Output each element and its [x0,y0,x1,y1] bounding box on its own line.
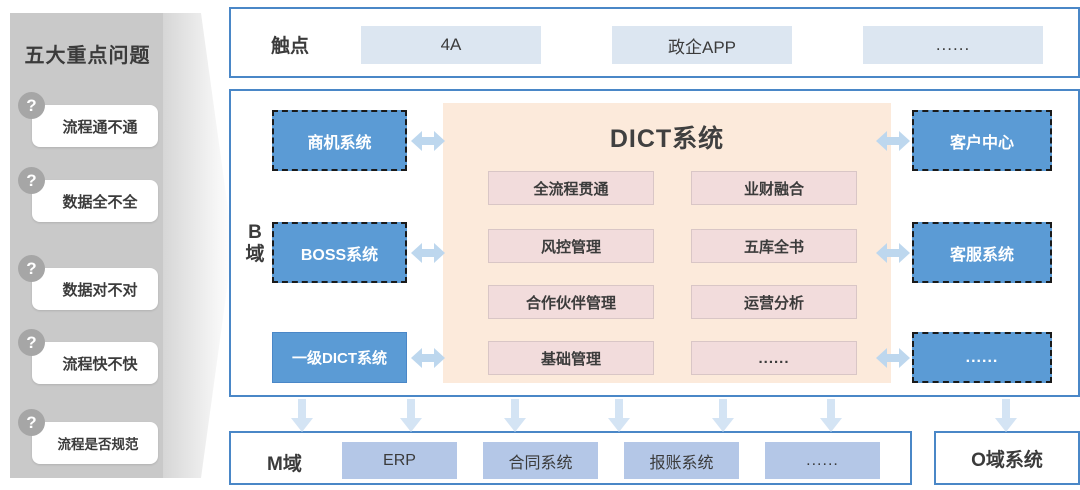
dict-system-area: DICT系统 全流程贯通 风控管理 合作伙伴管理 基础管理 业财融合 五库全书 … [443,103,891,383]
bidirectional-arrow-icon [411,240,445,266]
system-box-more[interactable]: ...... [912,332,1052,383]
m-chip-contract-system[interactable]: 合同系统 [483,442,598,479]
key-issues-sidebar: 五大重点问题 流程通不通 ? 数据全不全 ? 数据对不对 ? 流程快不快 ? [10,13,165,478]
bidirectional-arrow-icon [876,240,910,266]
issue-label: 数据全不全 [52,191,137,212]
down-arrow-icon [291,399,313,432]
touchpoint-title: 触点 [271,31,309,58]
module-label: 合作伙伴管理 [526,292,616,313]
question-mark-icon: ? [18,329,45,356]
question-mark-icon: ? [18,409,45,436]
chip-label: 4A [441,35,462,55]
issue-box: 流程是否规范 [32,422,158,464]
chip-label: ...... [806,452,839,470]
bidirectional-arrow-icon [876,128,910,154]
chip-label: ...... [936,35,970,55]
b-domain-label-line2: 域 [240,244,270,266]
dict-module-partner-mgmt[interactable]: 合作伙伴管理 [488,285,654,319]
diagram-canvas: 五大重点问题 流程通不通 ? 数据全不全 ? 数据对不对 ? 流程快不快 ? [0,0,1080,490]
dict-system-title: DICT系统 [443,119,891,155]
question-mark-icon: ? [18,255,45,282]
module-label: 风控管理 [541,236,601,257]
module-label: 五库全书 [744,236,804,257]
system-label: ...... [966,349,999,367]
m-chip-more[interactable]: ...... [765,442,880,479]
touchpoint-chip-gov-app[interactable]: 政企APP [612,26,792,64]
dict-module-more[interactable]: ...... [691,341,857,375]
m-chip-reimbursement-system[interactable]: 报账系统 [624,442,739,479]
sidebar-title: 五大重点问题 [10,39,165,68]
touchpoint-chip-more[interactable]: ...... [863,26,1043,64]
chip-label: 报账系统 [649,449,713,473]
system-box-customer-service[interactable]: 客服系统 [912,222,1052,283]
module-label: 业财融合 [744,178,804,199]
m-chip-erp[interactable]: ERP [342,442,457,479]
system-label: BOSS系统 [301,241,378,265]
issue-item-4[interactable]: 流程快不快 ? [28,342,158,384]
module-label: 全流程贯通 [533,178,608,199]
b-domain-label: B 域 [240,222,270,266]
o-domain-panel[interactable]: O域系统 [934,431,1080,485]
b-domain-label-line1: B [240,222,270,244]
issue-box: 流程通不通 [32,105,158,147]
issue-box: 数据全不全 [32,180,158,222]
system-label: 商机系统 [307,129,371,153]
chevron-connector-icon [163,13,233,478]
issue-item-5[interactable]: 流程是否规范 ? [28,422,158,464]
dict-module-basic-mgmt[interactable]: 基础管理 [488,341,654,375]
dict-module-operation-analysis[interactable]: 运营分析 [691,285,857,319]
issue-item-2[interactable]: 数据全不全 ? [28,180,158,222]
chip-label: 政企APP [668,33,736,58]
issue-label: 流程是否规范 [52,433,139,453]
m-domain-panel: M域 ERP 合同系统 报账系统 ...... [229,431,912,485]
bidirectional-arrow-icon [411,345,445,371]
question-mark-icon: ? [18,167,45,194]
module-label: 运营分析 [744,292,804,313]
touchpoint-panel: 触点 4A 政企APP ...... [229,7,1080,78]
issue-label: 流程快不快 [52,353,137,374]
chip-label: ERP [383,452,416,470]
system-label: 客户中心 [950,129,1014,153]
system-label: 一级DICT系统 [292,347,387,368]
down-arrow-icon [820,399,842,432]
down-arrow-icon [995,399,1017,432]
touchpoint-chip-4a[interactable]: 4A [361,26,541,64]
module-label: ...... [758,350,789,367]
down-arrow-icon [712,399,734,432]
system-label: 客服系统 [950,241,1014,265]
module-label: 基础管理 [541,348,601,369]
issue-box: 数据对不对 [32,268,158,310]
system-box-boss[interactable]: BOSS系统 [272,222,407,283]
down-arrow-icon [400,399,422,432]
down-arrow-icon [608,399,630,432]
bidirectional-arrow-icon [876,345,910,371]
issue-item-3[interactable]: 数据对不对 ? [28,268,158,310]
issue-label: 数据对不对 [52,279,137,300]
dict-module-risk-control[interactable]: 风控管理 [488,229,654,263]
dict-module-full-process[interactable]: 全流程贯通 [488,171,654,205]
chip-label: 合同系统 [508,449,572,473]
question-mark-icon: ? [18,92,45,119]
issue-label: 流程通不通 [52,116,137,137]
issue-item-1[interactable]: 流程通不通 ? [28,105,158,147]
dict-module-five-libraries[interactable]: 五库全书 [691,229,857,263]
system-box-level1-dict[interactable]: 一级DICT系统 [272,332,407,383]
system-box-business-opportunity[interactable]: 商机系统 [272,110,407,171]
system-box-customer-center[interactable]: 客户中心 [912,110,1052,171]
o-domain-title: O域系统 [971,445,1043,472]
issue-box: 流程快不快 [32,342,158,384]
down-arrow-icon [504,399,526,432]
dict-module-business-finance[interactable]: 业财融合 [691,171,857,205]
bidirectional-arrow-icon [411,128,445,154]
m-domain-title: M域 [267,449,302,476]
